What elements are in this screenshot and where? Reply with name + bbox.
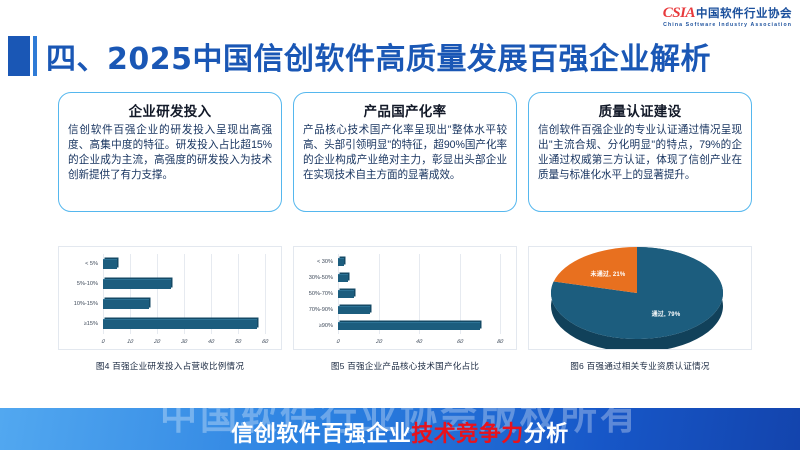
card-localization-rate: 产品国产化率 产品核心技术国产化率呈现出"整体水平较高、头部引领明显"的特征，超… xyxy=(293,92,517,212)
bar-row: 70%-90% xyxy=(338,306,500,314)
bar-row: ≥90% xyxy=(338,322,500,330)
bar xyxy=(338,322,480,330)
x-axis-tick-label: 60 xyxy=(455,339,463,345)
bar-row: 50%-70% xyxy=(338,290,500,298)
category-label: 5%-10% xyxy=(77,281,98,287)
banner-title-prefix: 信创软件百强企业 xyxy=(231,421,411,446)
x-axis-tick-label: 10 xyxy=(126,339,134,345)
banner-title: 信创软件百强企业技术竞争力分析 xyxy=(0,416,800,448)
category-label: ≥15% xyxy=(84,321,98,327)
card-body: 信创软件百强企业的研发投入呈现出高强度、高集中度的特征。研发投入占比超15%的企… xyxy=(68,123,272,183)
pie-data-label: 未通过, 21% xyxy=(591,269,626,278)
csia-logo: CSIA 中国软件行业协会 China Software Industry As… xyxy=(663,6,792,28)
x-axis-tick-label: 60 xyxy=(261,339,269,345)
x-axis-tick-label: 20 xyxy=(374,339,382,345)
title-accent-block xyxy=(8,36,30,76)
card-title: 质量认证建设 xyxy=(538,100,742,120)
bar xyxy=(338,290,354,298)
category-label: 30%-50% xyxy=(309,275,333,281)
chart-panel-rd-investment: 0102030405060< 5%5%-10%10%-15%≥15% xyxy=(58,246,282,350)
csia-mark-icon: CSIA xyxy=(663,6,695,21)
category-label: 50%-70% xyxy=(309,291,333,297)
pie-data-label: 通过, 79% xyxy=(652,309,681,318)
x-axis-tick-label: 30 xyxy=(180,339,188,345)
category-label: 70%-90% xyxy=(309,307,333,313)
banner-title-suffix: 分析 xyxy=(524,421,569,446)
logo-row: CSIA 中国软件行业协会 xyxy=(663,6,792,21)
chart-captions: 图4 百强企业研发投入占营收比例情况 图5 百强企业产品核心技术国产化占比 图6… xyxy=(58,352,752,372)
card-body: 产品核心技术国产化率呈现出"整体水平较高、头部引领明显"的特征，超90%国产化率… xyxy=(303,123,507,183)
chart-panel-certification: 通过, 79%未通过, 21% xyxy=(528,246,752,350)
page-title-text: 四、2025中国信创软件高质量发展百强企业解析 xyxy=(46,34,711,78)
title-accent-bar xyxy=(33,36,37,76)
banner-title-highlight: 技术竞争力 xyxy=(411,421,524,446)
bar xyxy=(103,319,257,329)
x-axis-tick-label: 40 xyxy=(207,339,215,345)
bar xyxy=(103,279,171,289)
card-quality-certification: 质量认证建设 信创软件百强企业的专业认证通过情况呈现出"主流合规、分化明显"的特… xyxy=(528,92,752,212)
card-rd-investment: 企业研发投入 信创软件百强企业的研发投入呈现出高强度、高集中度的特征。研发投入占… xyxy=(58,92,282,212)
card-title: 企业研发投入 xyxy=(68,100,272,120)
bar-chart-plot-area: 020406080< 30%30%-50%50%-70%70%-90%≥90% xyxy=(338,254,500,334)
bar-chart-localization: 020406080< 30%30%-50%50%-70%70%-90%≥90% xyxy=(294,247,516,349)
bar xyxy=(103,259,117,269)
category-label: < 5% xyxy=(85,261,98,267)
pie-chart-svg xyxy=(529,247,752,350)
summary-cards: 企业研发投入 信创软件百强企业的研发投入呈现出高强度、高集中度的特征。研发投入占… xyxy=(58,92,752,212)
chart-panels: 0102030405060< 5%5%-10%10%-15%≥15% 02040… xyxy=(58,246,752,350)
bar-chart-plot-area: 0102030405060< 5%5%-10%10%-15%≥15% xyxy=(103,254,265,334)
page-title: 四、2025中国信创软件高质量发展百强企业解析 xyxy=(8,34,711,78)
chart-panel-localization: 020406080< 30%30%-50%50%-70%70%-90%≥90% xyxy=(293,246,517,350)
bar-row: ≥15% xyxy=(103,319,265,329)
chart-caption: 图6 百强通过相关专业资质认证情况 xyxy=(528,360,752,372)
chart-caption: 图5 百强企业产品核心技术国产化占比 xyxy=(293,360,517,372)
bar-row: 30%-50% xyxy=(338,274,500,282)
x-axis-tick-label: 0 xyxy=(335,339,340,345)
pie-chart-certification: 通过, 79%未通过, 21% xyxy=(529,247,751,349)
logo-name-en: China Software Industry Association xyxy=(663,23,792,28)
bar xyxy=(338,306,370,314)
grid-line xyxy=(500,254,501,334)
chart-caption: 图4 百强企业研发投入占营收比例情况 xyxy=(58,360,282,372)
x-axis-tick-label: 50 xyxy=(234,339,242,345)
grid-line xyxy=(265,254,266,334)
category-label: < 30% xyxy=(317,259,333,265)
bottom-banner: 中国软件行业协会版权所有 信创软件百强企业技术竞争力分析 xyxy=(0,408,800,450)
bar-row: 5%-10% xyxy=(103,279,265,289)
bar-row: < 5% xyxy=(103,259,265,269)
bar xyxy=(103,299,149,309)
x-axis-tick-label: 0 xyxy=(100,339,105,345)
category-label: ≥90% xyxy=(319,323,333,329)
bar-row: < 30% xyxy=(338,258,500,266)
x-axis-tick-label: 20 xyxy=(153,339,161,345)
bar xyxy=(338,258,344,266)
card-body: 信创软件百强企业的专业认证通过情况呈现出"主流合规、分化明显"的特点，79%的企… xyxy=(538,123,742,183)
bar-row: 10%-15% xyxy=(103,299,265,309)
category-label: 10%-15% xyxy=(74,301,98,307)
bar xyxy=(338,274,348,282)
card-title: 产品国产化率 xyxy=(303,100,507,120)
x-axis-tick-label: 80 xyxy=(496,339,504,345)
x-axis-tick-label: 40 xyxy=(415,339,423,345)
logo-name-cn: 中国软件行业协会 xyxy=(696,9,792,21)
bar-chart-rd: 0102030405060< 5%5%-10%10%-15%≥15% xyxy=(59,247,281,349)
